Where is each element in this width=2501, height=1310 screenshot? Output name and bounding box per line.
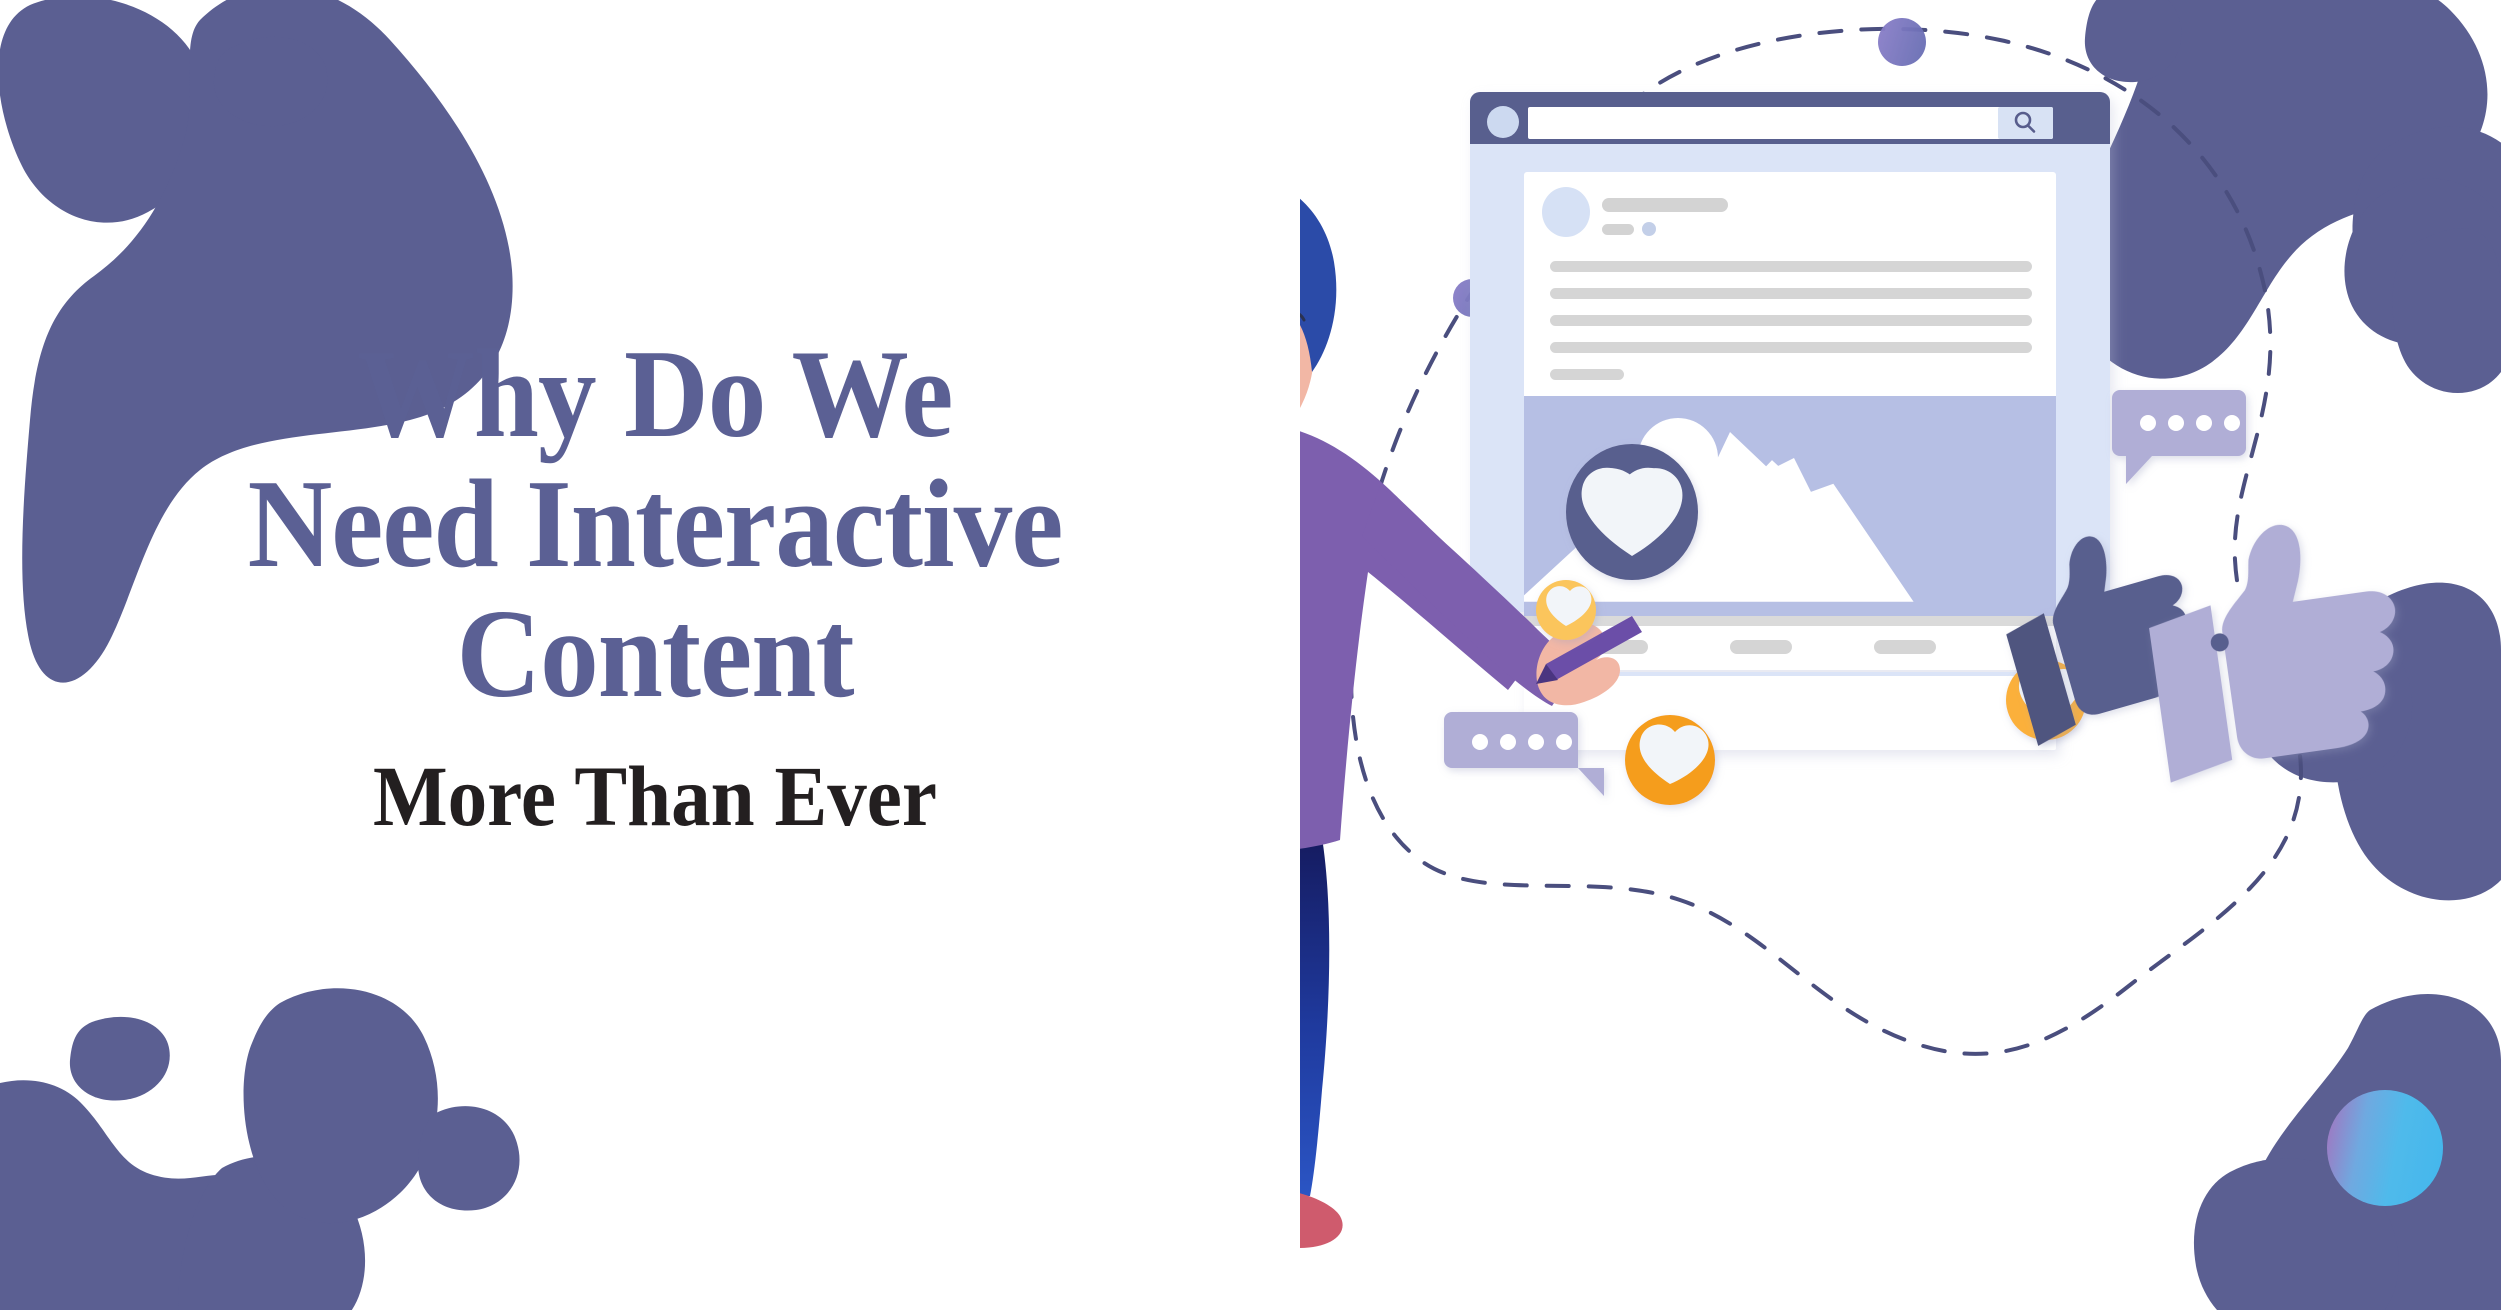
browser-traffic-dot[interactable] bbox=[1487, 106, 1519, 138]
poster-canvas: Why Do We Need Interactive Content More … bbox=[0, 0, 2501, 1310]
page-subtitle: More Than Ever bbox=[52, 753, 1257, 839]
headline-line-3: Content bbox=[46, 590, 1264, 720]
avatar bbox=[1542, 187, 1590, 237]
hero-illustration bbox=[1300, 0, 2501, 1310]
heart-reaction-orange-large[interactable] bbox=[1625, 715, 1715, 805]
headline-line-1: Why Do We bbox=[46, 330, 1264, 460]
post-text-line bbox=[1550, 261, 2032, 272]
post-meta-dot bbox=[1642, 222, 1656, 236]
post-divider bbox=[1524, 616, 2056, 626]
blob-top-left-dot bbox=[214, 37, 328, 126]
blob-bottom-left-dot bbox=[70, 1017, 170, 1101]
decor-circle-blue bbox=[2327, 1090, 2443, 1206]
thumbs-up-light[interactable] bbox=[2137, 510, 2414, 782]
post-meta-bar bbox=[1602, 224, 1634, 235]
page-title: Why Do We Need Interactive Content bbox=[46, 330, 1264, 719]
post-text-line bbox=[1550, 369, 1624, 380]
post-text-line bbox=[1550, 342, 2032, 353]
heart-reaction-dark[interactable] bbox=[1566, 444, 1698, 580]
search-input[interactable] bbox=[1528, 107, 2053, 139]
person-shoe-front bbox=[1300, 1189, 1343, 1248]
heart-reaction-orange-small[interactable] bbox=[1536, 580, 1596, 640]
search-button[interactable] bbox=[1998, 107, 2053, 139]
post-text-line bbox=[1550, 315, 2032, 326]
action-button[interactable] bbox=[1730, 640, 1792, 654]
person-jeans bbox=[1300, 821, 1329, 1196]
headline-line-2: Need Interactive bbox=[46, 460, 1264, 590]
blob-bottom-right-of-left bbox=[418, 1106, 520, 1210]
blob-top-left-main bbox=[0, 0, 207, 223]
action-button[interactable] bbox=[1874, 640, 1936, 654]
blob-bottom-left-main bbox=[0, 1080, 257, 1310]
headline-block: Why Do We Need Interactive Content More … bbox=[0, 330, 1310, 839]
post-text-line bbox=[1550, 288, 2032, 299]
blob-bottom-mid bbox=[244, 988, 438, 1223]
speech-bubble-right[interactable] bbox=[2112, 390, 2246, 484]
blob-bottom-left-mid bbox=[178, 1156, 365, 1310]
decor-dot-top bbox=[1878, 18, 1926, 66]
author-name-bar bbox=[1602, 198, 1728, 212]
person-hair bbox=[1300, 174, 1336, 470]
